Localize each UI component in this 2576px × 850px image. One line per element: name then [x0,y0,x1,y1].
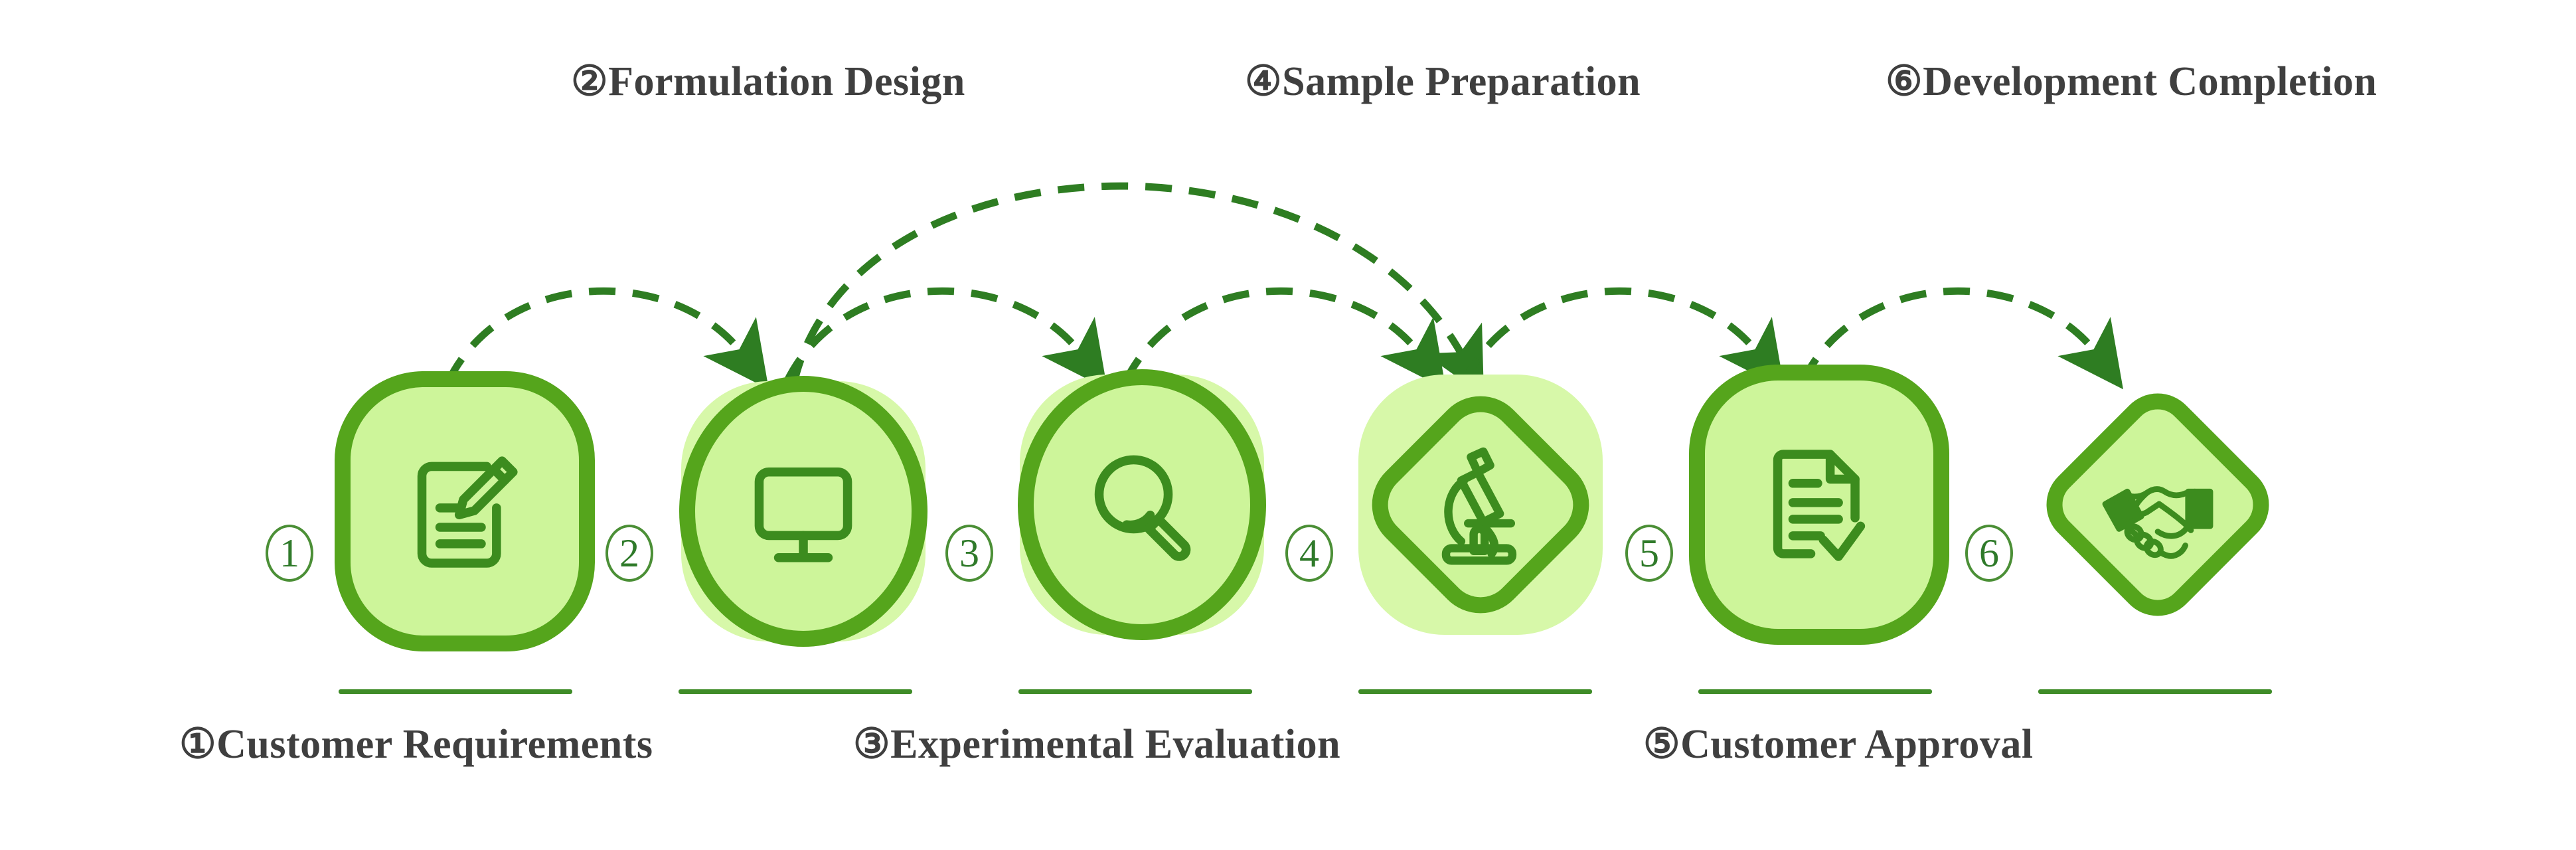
step-label-text: Development Completion [1923,61,2377,102]
step-label-text: Sample Preparation [1282,61,1641,102]
step-marker-number: 3 [959,531,979,576]
step-marker-number: 6 [1979,531,1999,576]
step-label-number: ① [179,724,216,765]
step-label-text: Experimental Evaluation [890,724,1340,765]
step-label-customer-requirements: ①Customer Requirements [179,724,653,765]
process-flow-diagram: ②Formulation Design ④Sample Preparation … [0,0,2576,850]
step-label-text: Customer Requirements [216,724,653,765]
process-step-4[interactable] [1348,362,1613,647]
step-underline-4 [1358,689,1592,694]
step-label-number: ⑥ [1886,61,1923,102]
step-marker-2: 2 [605,525,653,582]
step-label-number: ③ [853,724,890,765]
step-underline-6 [2038,689,2272,694]
process-step-3[interactable] [1009,362,1275,647]
handshake-icon [2089,435,2227,573]
document-check-icon [1750,435,1888,573]
step-label-formulation-design: ②Formulation Design [571,61,965,102]
step-label-development-completion: ⑥Development Completion [1886,61,2377,102]
process-step-2[interactable] [671,369,936,654]
microscope-icon [1411,435,1550,573]
step-underline-3 [1018,689,1252,694]
step-label-number: ② [571,61,608,102]
step-label-number: ④ [1245,61,1282,102]
step-underline-1 [339,689,572,694]
step-marker-number: 1 [280,531,299,576]
arrow-2-to-4 [793,186,1464,385]
step-label-text: Customer Approval [1680,724,2034,765]
monitor-icon [734,442,872,580]
step-underline-5 [1698,689,1932,694]
step-marker-number: 4 [1299,531,1319,576]
step-marker-number: 5 [1639,531,1659,576]
step-label-sample-preparation: ④Sample Preparation [1245,61,1641,102]
process-step-1[interactable] [332,369,598,654]
step-marker-4: 4 [1285,525,1333,582]
step-marker-1: 1 [266,525,313,582]
step-marker-6: 6 [1965,525,2013,582]
step-label-text: Formulation Design [608,61,965,102]
step-label-experimental-evaluation: ③Experimental Evaluation [853,724,1340,765]
step-marker-3: 3 [945,525,993,582]
process-step-5[interactable] [1686,362,1952,647]
step-marker-5: 5 [1625,525,1673,582]
magnifier-icon [1073,435,1211,573]
step-label-customer-approval: ⑤Customer Approval [1643,724,2034,765]
document-pencil-icon [396,442,534,580]
process-step-6[interactable] [2025,362,2291,647]
step-marker-number: 2 [619,531,639,576]
step-underline-2 [679,689,912,694]
step-label-number: ⑤ [1643,724,1680,765]
